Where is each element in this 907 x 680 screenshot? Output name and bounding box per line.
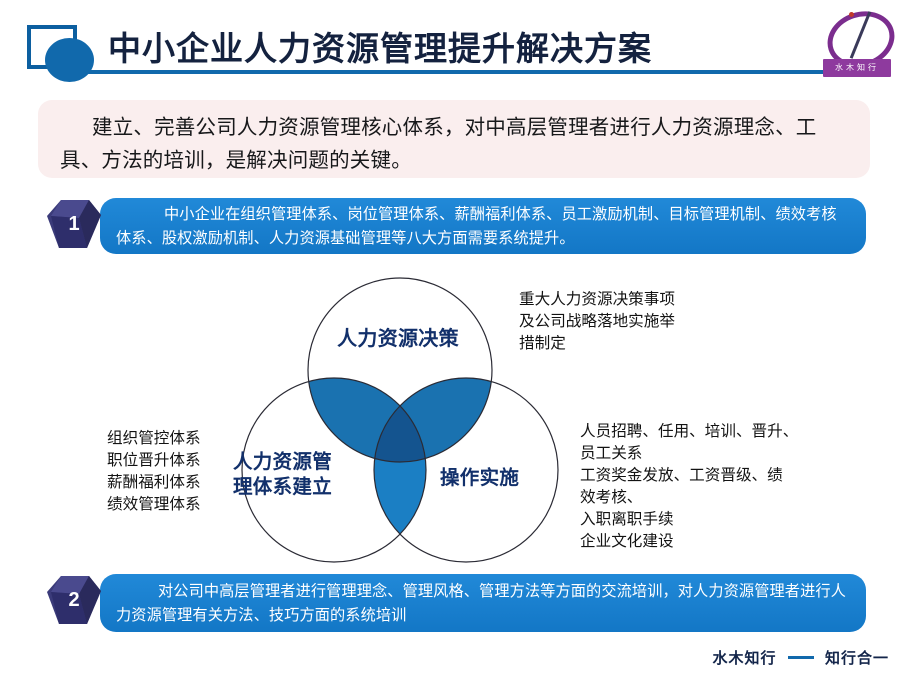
intro-callout-box: 建立、完善公司人力资源管理核心体系，对中高层管理者进行人力资源理念、工具、方法的… xyxy=(38,100,870,178)
annotation-left: 组织管控体系 职位晋升体系 薪酬福利体系 绩效管理体系 xyxy=(107,427,252,515)
logo-dot-icon xyxy=(849,12,854,17)
venn-label-operations: 操作实施 xyxy=(440,461,555,490)
banner-1-text: 中小企业在组织管理体系、岗位管理体系、薪酬福利体系、员工激励机制、目标管理机制、… xyxy=(116,202,850,250)
banner-2-text: 对公司中高层管理者进行管理理念、管理风格、管理方法等方面的交流培训，对人力资源管… xyxy=(116,579,850,627)
footer-dash-icon xyxy=(788,656,814,659)
badge-1-number: 1 xyxy=(47,198,101,250)
venn-label-decision: 人力资源决策 xyxy=(283,322,513,351)
title-underline xyxy=(82,70,857,74)
footer-slogan: 知行合一 xyxy=(825,649,889,667)
badge-2: 2 xyxy=(47,574,101,628)
badge-1: 1 xyxy=(47,198,101,252)
banner-2: 对公司中高层管理者进行管理理念、管理风格、管理方法等方面的交流培训，对人力资源管… xyxy=(100,574,866,632)
banner-1: 中小企业在组织管理体系、岗位管理体系、薪酬福利体系、员工激励机制、目标管理机制、… xyxy=(100,198,866,254)
slide-header: 中小企业人力资源管理提升解决方案 水木知行 xyxy=(0,0,907,92)
annotation-top-right: 重大人力资源决策事项 及公司战略落地实施举 措制定 xyxy=(519,288,734,354)
annotation-right: 人员招聘、任用、培训、晋升、 员工关系 工资奖金发放、工资晋级、绩 效考核、 入… xyxy=(580,420,845,552)
badge-2-number: 2 xyxy=(47,574,101,626)
company-logo: 水木知行 xyxy=(821,10,895,82)
intro-text: 建立、完善公司人力资源管理核心体系，对中高层管理者进行人力资源理念、工具、方法的… xyxy=(60,111,848,177)
page-title: 中小企业人力资源管理提升解决方案 xyxy=(108,22,652,70)
footer-brand: 水木知行 xyxy=(713,649,777,667)
header-circle-decoration xyxy=(45,38,94,82)
logo-nameplate: 水木知行 xyxy=(823,59,891,77)
slide-footer: 水木知行 知行合一 xyxy=(713,647,890,668)
